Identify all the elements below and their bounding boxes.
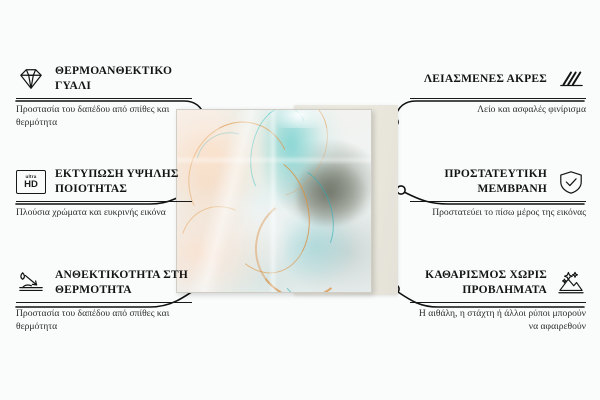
feature-heat-resistant-glass: ΘΕΡΜΟΑΝΘΕΚΤΙΚΟ ΓΥΑΛΙ Προστασία του δαπέδ… [16, 64, 192, 130]
feature-title: ΛΕΙΑΣΜΕΝΕΣ ΑΚΡΕΣ [424, 72, 547, 87]
divider [16, 302, 192, 303]
divider [16, 201, 192, 202]
feature-title: ΘΕΡΜΟΑΝΘΕΚΤΙΚΟ ΓΥΑΛΙ [55, 64, 192, 93]
polished-edges-icon [556, 66, 586, 92]
diamond-icon [16, 66, 46, 92]
flame-resistance-icon [16, 270, 46, 296]
feature-easy-cleaning: ΚΑΘΑΡΙΣΜΟΣ ΧΩΡΙΣ ΠΡΟΒΛΗΜΑΤΑ Η αιθάλη, η … [410, 268, 586, 334]
divider [410, 201, 586, 202]
feature-subtitle: Πλούσια χρώματα και ευκρινής εικόνα [16, 207, 192, 220]
product-glass-panel [176, 109, 372, 293]
feature-title: ΕΚΤΥΠΩΣΗ ΥΨΗΛΗΣ ΠΟΙΟΤΗΤΑΣ [55, 167, 192, 196]
marble-artwork [177, 110, 371, 292]
shield-check-icon [556, 169, 586, 195]
product-image [176, 109, 398, 293]
feature-title: ΚΑΘΑΡΙΣΜΟΣ ΧΩΡΙΣ ΠΡΟΒΛΗΜΑΤΑ [410, 268, 547, 297]
feature-subtitle: Η αιθάλη, η στάχτη ή άλλοι ρύποι μπορούν… [410, 308, 586, 334]
feature-title: ΠΡΟΣΤΑΤΕΥΤΙΚΗ ΜΕΜΒΡΑΝΗ [410, 167, 547, 196]
feature-subtitle: Λείο και ασφαλές φινίρισμα [410, 104, 586, 117]
feature-heat-durability: ΑΝΘΕΚΤΙΚΟΤΗΤΑ ΣΤΗ ΘΕΡΜΟΤΗΤΑ Προστασία το… [16, 268, 192, 334]
ultra-hd-icon: ultraHD [16, 170, 46, 194]
feature-high-quality-print: ultraHD ΕΚΤΥΠΩΣΗ ΥΨΗΛΗΣ ΠΟΙΟΤΗΤΑΣ Πλούσι… [16, 167, 192, 220]
divider [16, 98, 192, 99]
connector-dot [397, 186, 405, 194]
feature-subtitle: Προστασία του δαπέδου από σπίθες και θερ… [16, 104, 192, 130]
easy-clean-icon [556, 270, 586, 296]
feature-polished-edges: ΛΕΙΑΣΜΕΝΕΣ ΑΚΡΕΣ Λείο και ασφαλές φινίρι… [410, 64, 586, 117]
divider [410, 98, 586, 99]
divider [410, 302, 586, 303]
feature-protective-membrane: ΠΡΟΣΤΑΤΕΥΤΙΚΗ ΜΕΜΒΡΑΝΗ Προστατεύει το πί… [410, 167, 586, 220]
feature-title: ΑΝΘΕΚΤΙΚΟΤΗΤΑ ΣΤΗ ΘΕΡΜΟΤΗΤΑ [55, 268, 192, 297]
infographic-stage: ΘΕΡΜΟΑΝΘΕΚΤΙΚΟ ΓΥΑΛΙ Προστασία του δαπέδ… [0, 0, 600, 400]
feature-subtitle: Προστασία του δαπέδου από σπίθες και θερ… [16, 308, 192, 334]
feature-subtitle: Προστατεύει το πίσω μέρος της εικόνας [410, 207, 586, 220]
